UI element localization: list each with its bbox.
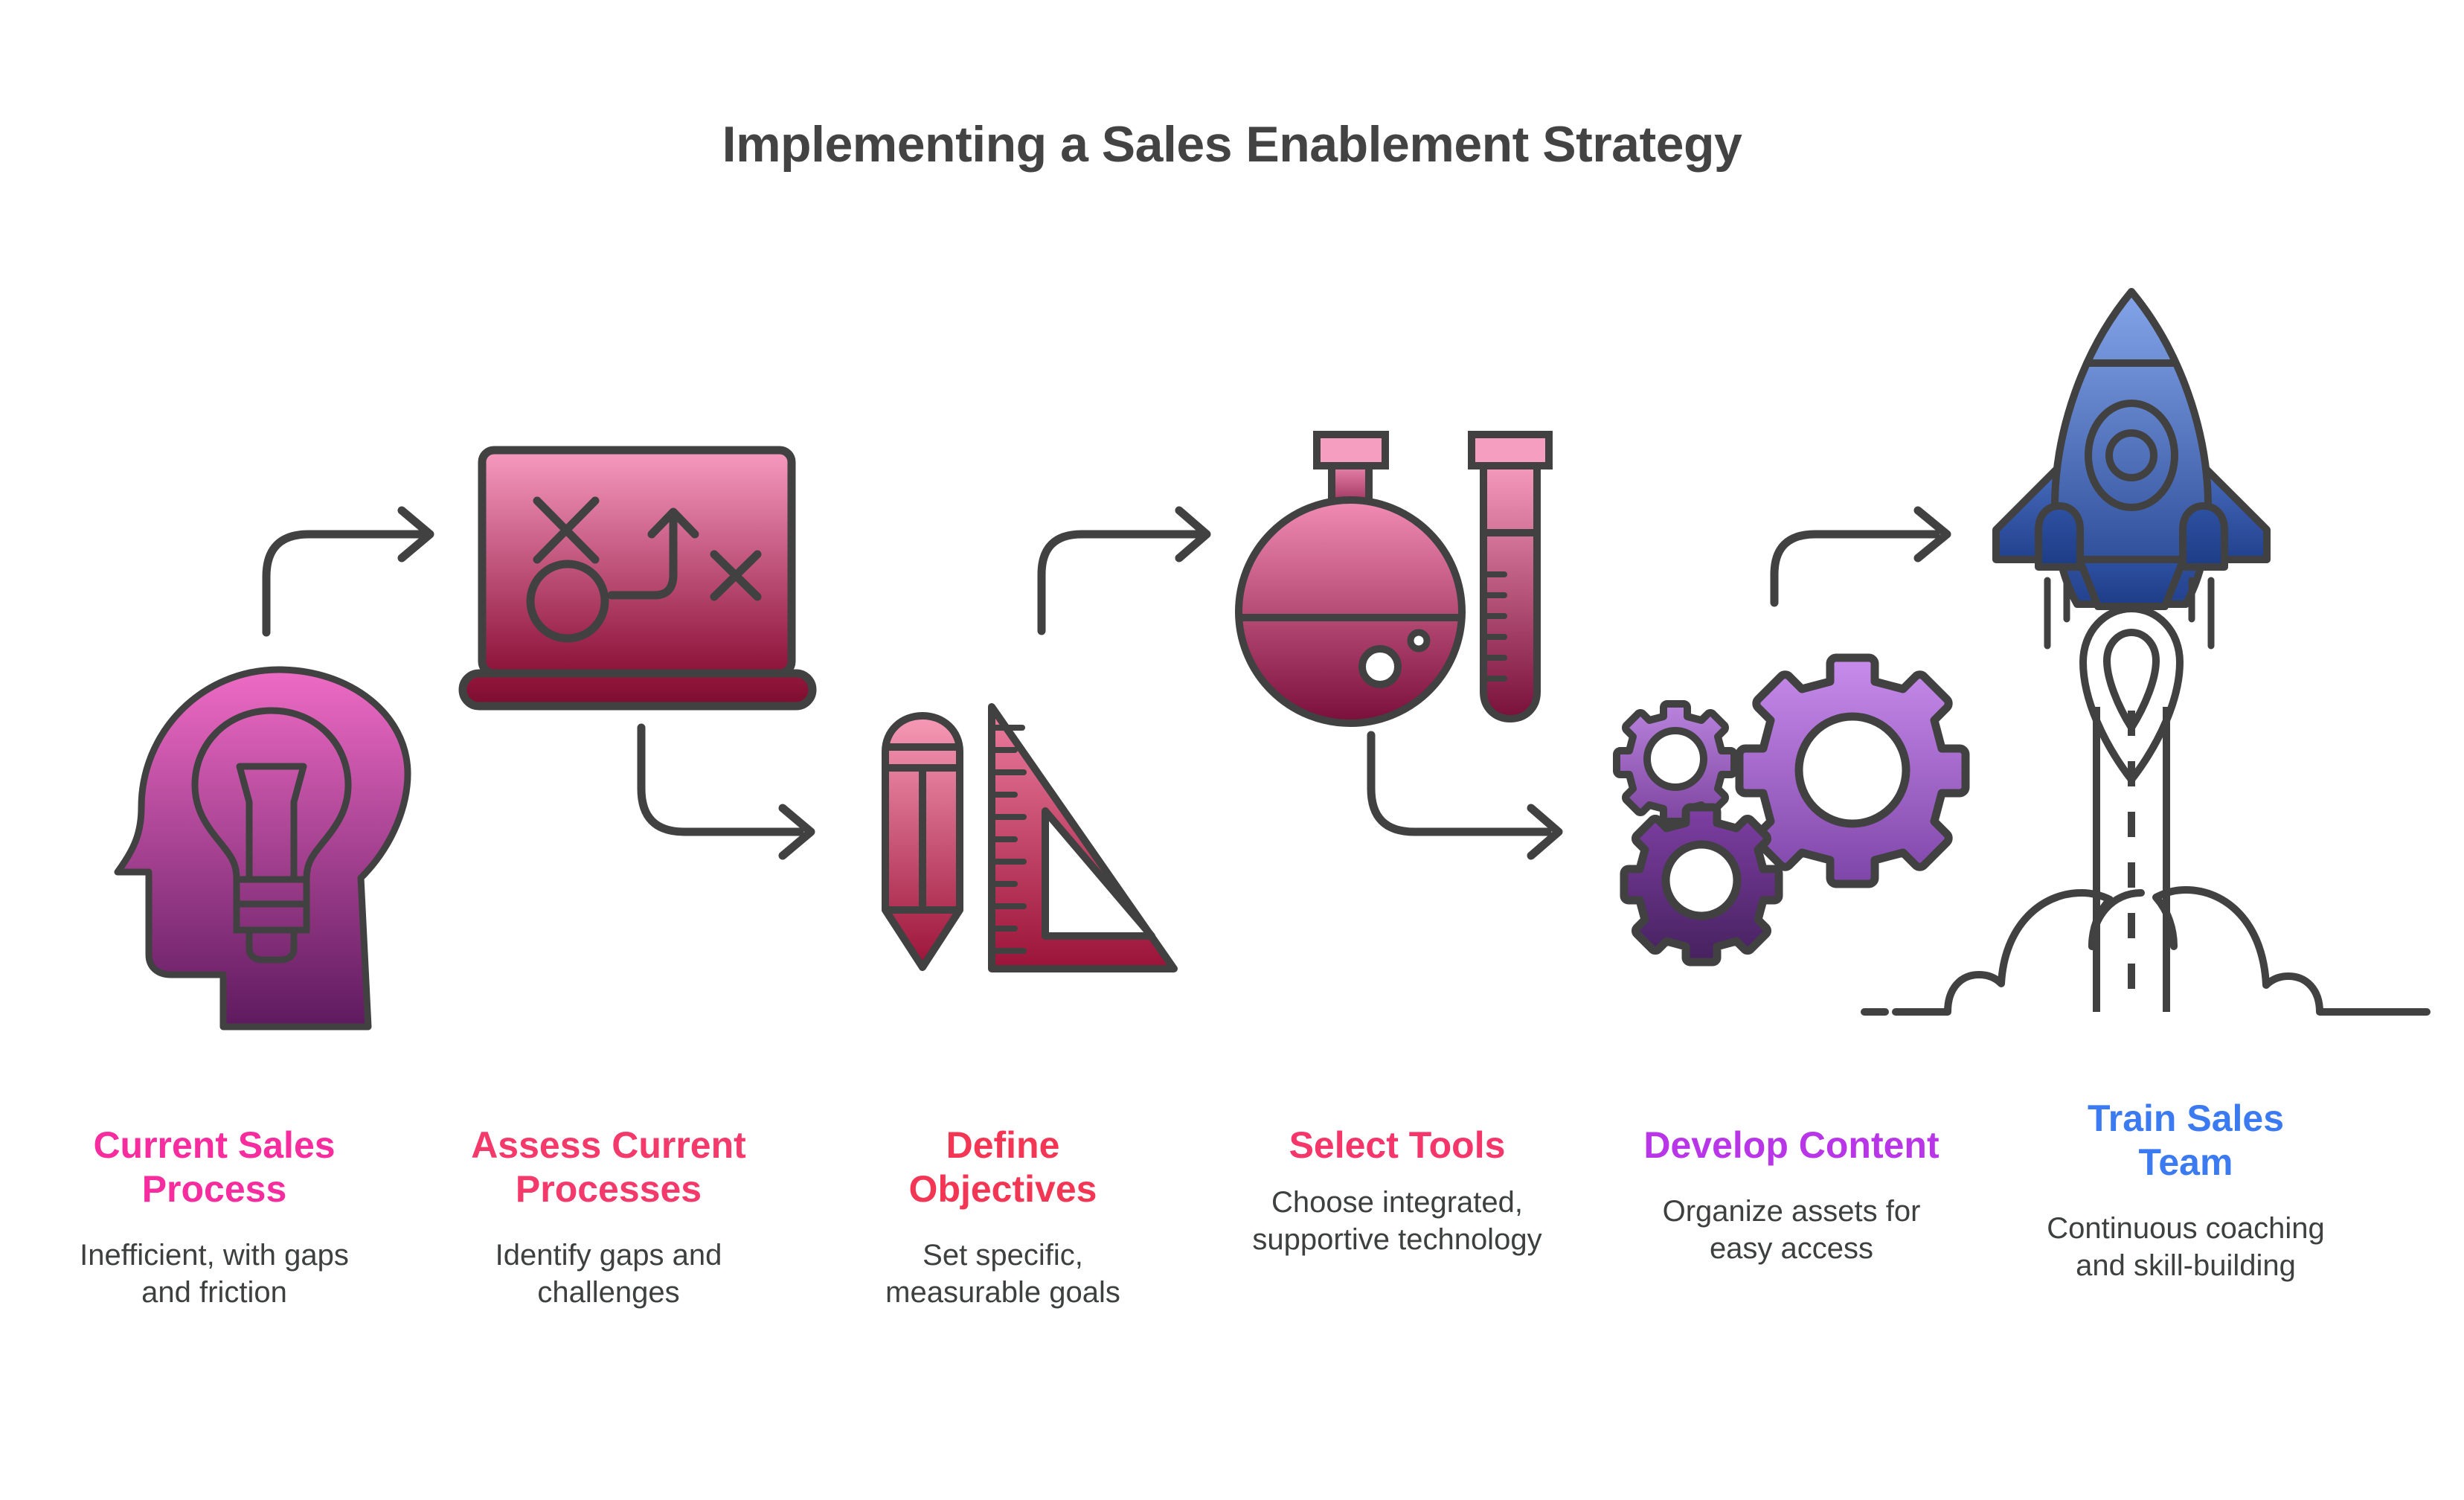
step-label-2: Assess Current Processes Identify gaps a…: [415, 1124, 802, 1436]
step-title-1: Current Sales Process: [65, 1124, 363, 1211]
page-title: Implementing a Sales Enablement Strategy: [0, 115, 2464, 173]
flask-testtube-icon: [1239, 435, 1549, 723]
infographic-canvas: Implementing a Sales Enablement Strategy: [0, 0, 2464, 1500]
step-label-5: Develop Content Organize assets for easy…: [1598, 1124, 1985, 1436]
step-description-3: Set specific, measurable goals: [854, 1237, 1152, 1311]
step-description-1: Inefficient, with gaps and friction: [65, 1237, 363, 1311]
rocket-launch-icon: [1864, 292, 2427, 1012]
step-title-5: Develop Content: [1643, 1124, 1939, 1167]
step-description-6: Continuous coaching and skill-building: [2037, 1210, 2335, 1284]
step-label-3: Define Objectives Set specific, measurab…: [809, 1124, 1196, 1436]
step-title-3: Define Objectives: [854, 1124, 1152, 1211]
step-title-4: Select Tools: [1289, 1124, 1506, 1167]
pencil-ruler-icon: [885, 707, 1174, 969]
gears-icon: [1617, 658, 1966, 962]
head-lightbulb-icon: [118, 670, 408, 1027]
step-labels-row: Current Sales Process Inefficient, with …: [0, 1124, 2464, 1436]
arrow-step1-to-step2: [266, 510, 430, 632]
arrow-step3-to-step4: [1042, 510, 1207, 631]
step-title-2: Assess Current Processes: [460, 1124, 757, 1211]
step-description-5: Organize assets for easy access: [1643, 1193, 1940, 1267]
strategy-board-icon: [463, 450, 812, 706]
step-title-6: Train Sales Team: [2037, 1097, 2335, 1185]
arrow-step4-to-step5: [1371, 735, 1559, 856]
arrow-step5-to-step6: [1774, 510, 1947, 603]
step-description-4: Choose integrated, supportive technology: [1248, 1184, 1546, 1258]
step-label-6: Train Sales Team Continuous coaching and…: [1992, 1097, 2379, 1436]
step-label-4: Select Tools Choose integrated, supporti…: [1204, 1124, 1591, 1436]
arrow-step2-to-step3: [641, 728, 811, 856]
step-label-1: Current Sales Process Inefficient, with …: [21, 1124, 408, 1436]
step-description-2: Identify gaps and challenges: [460, 1237, 757, 1311]
